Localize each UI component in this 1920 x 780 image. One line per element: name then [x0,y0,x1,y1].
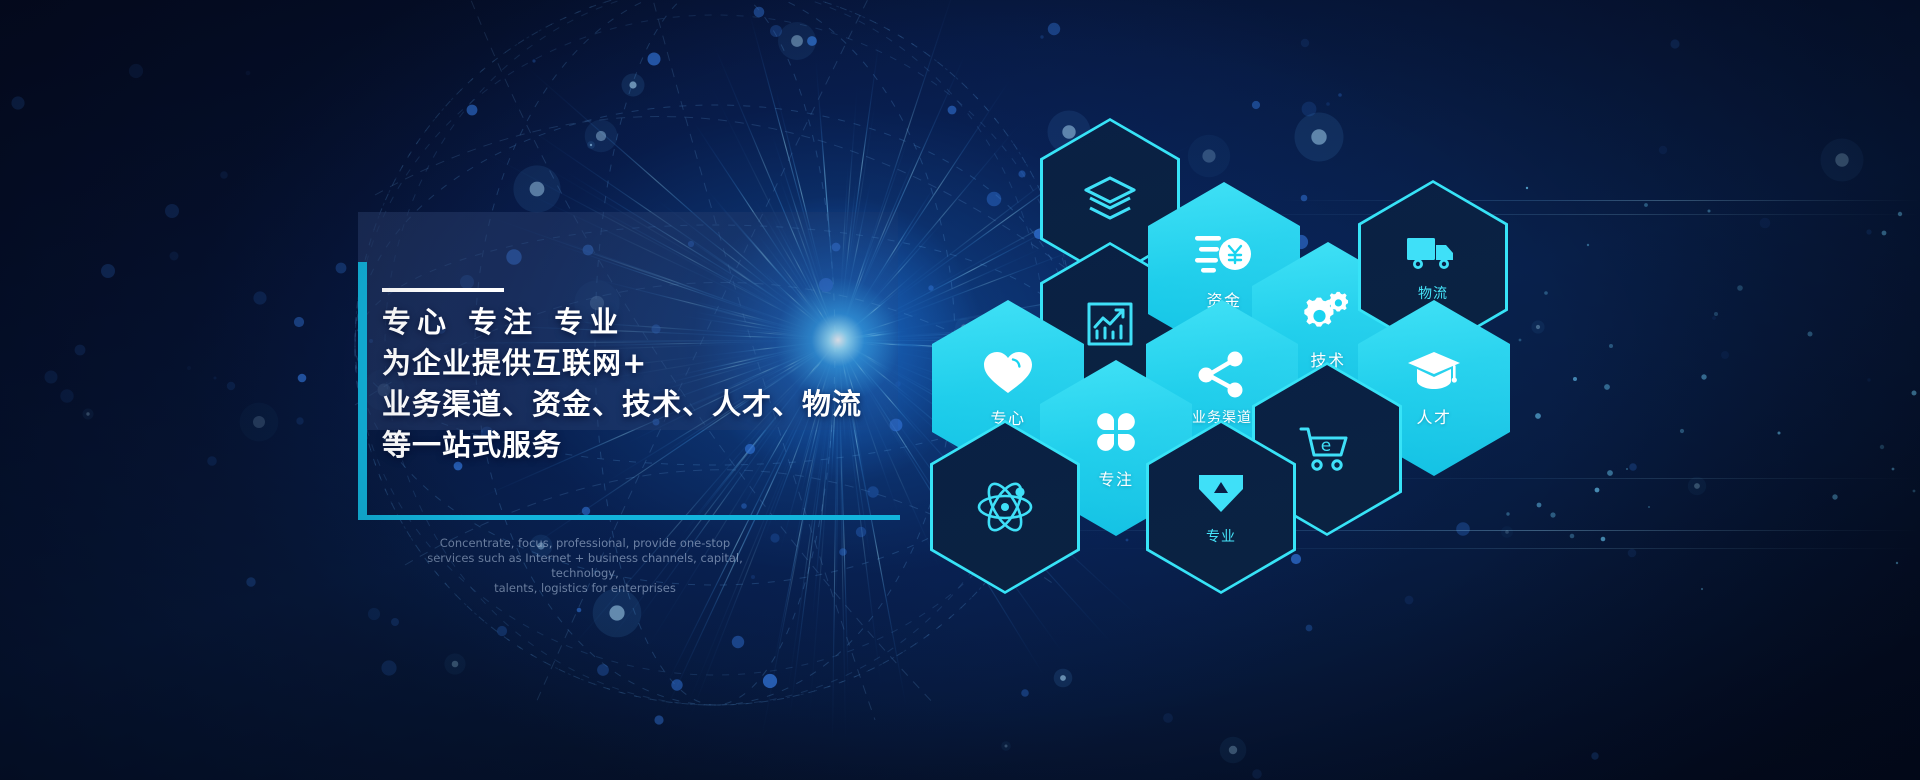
vignette-overlay [0,0,1920,780]
banner-stage: 资金 技术 [0,0,1920,780]
